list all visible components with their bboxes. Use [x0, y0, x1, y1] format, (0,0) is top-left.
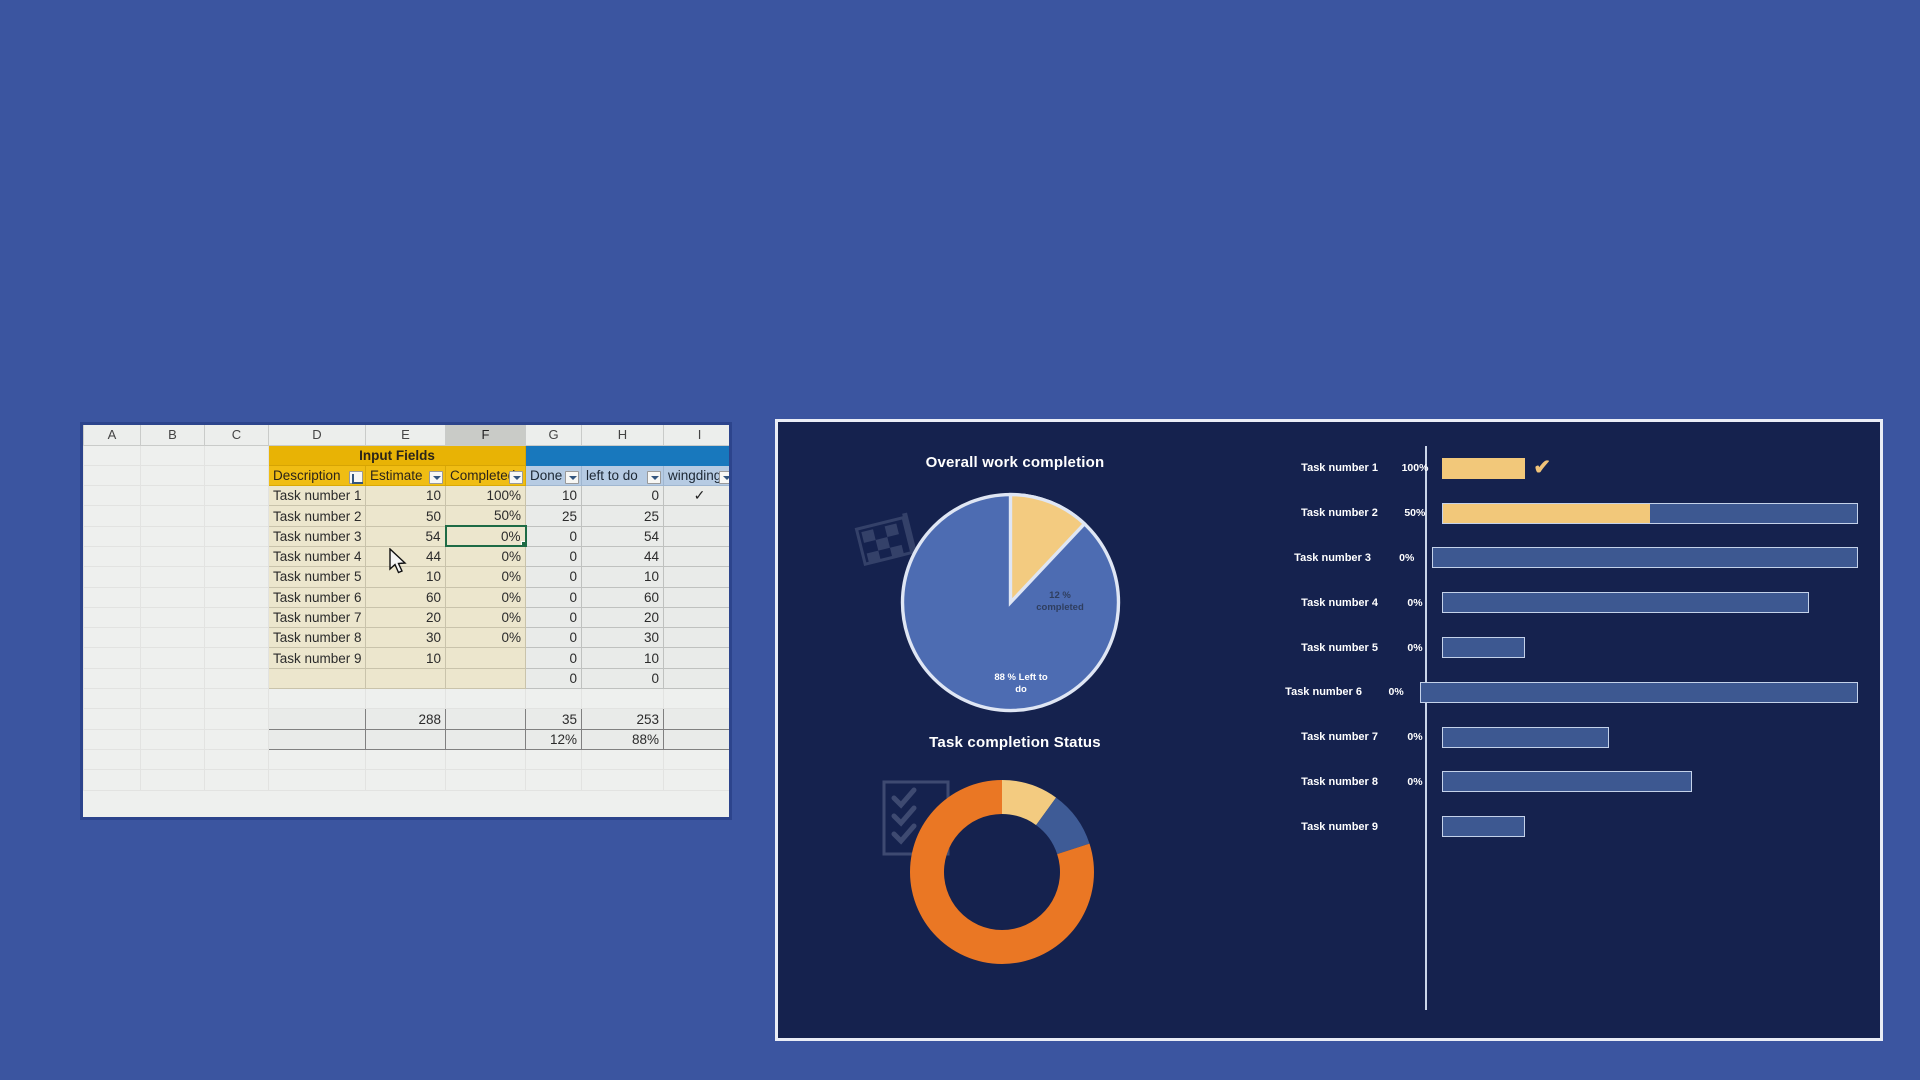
cell-blank[interactable]	[84, 526, 141, 546]
cell-left-to-do[interactable]: 30	[582, 628, 664, 648]
table-body[interactable]: Task number 110100%100✓Task number 25050…	[84, 486, 733, 689]
cell-done[interactable]: 0	[526, 668, 582, 688]
cell-blank[interactable]	[269, 770, 366, 790]
cell-description[interactable]: Task number 6	[269, 587, 366, 607]
cell-blank[interactable]	[366, 770, 446, 790]
table-row[interactable]: Task number 7200%020	[84, 607, 733, 627]
charts-column: Overall work completion 12 %complete	[800, 442, 1230, 1022]
percent-description[interactable]	[269, 729, 366, 749]
bar-track	[1432, 547, 1858, 568]
cell-blank[interactable]	[205, 445, 269, 465]
cell-blank[interactable]	[205, 546, 269, 566]
bar-percent-label: 50%	[1392, 507, 1438, 519]
pie-chart-svg	[898, 490, 1123, 715]
cell-done[interactable]: 0	[526, 567, 582, 587]
percent-row: 12% 88%	[84, 729, 733, 749]
cell-completed[interactable]: 0%	[446, 567, 526, 587]
cell-blank[interactable]	[84, 445, 141, 465]
cell-blank[interactable]	[205, 749, 269, 769]
cell-blank[interactable]	[205, 689, 269, 709]
cell-description[interactable]	[269, 668, 366, 688]
cell-wingdings[interactable]	[664, 587, 733, 607]
totals-row: 288 35 253 8	[84, 709, 733, 729]
header-description-label: Description	[273, 468, 341, 483]
cell-blank[interactable]	[84, 749, 141, 769]
cell-completed[interactable]: 0%	[446, 546, 526, 566]
header-left-to-do-label: left to do	[586, 468, 638, 483]
table-row[interactable]: Task number 4440%044	[84, 546, 733, 566]
cell-blank[interactable]	[446, 689, 526, 709]
cell-left-to-do[interactable]: 60	[582, 587, 664, 607]
cell-blank[interactable]	[84, 465, 141, 485]
cell-blank[interactable]	[84, 648, 141, 668]
cell-blank[interactable]	[141, 445, 205, 465]
bar-task-label: Task number 1	[1250, 462, 1392, 474]
cell-blank[interactable]	[205, 668, 269, 688]
bar-track	[1442, 637, 1525, 658]
cell-blank[interactable]	[664, 749, 733, 769]
bar-task-label: Task number 4	[1250, 597, 1392, 609]
bar-percent-label: 0%	[1392, 731, 1438, 743]
cell-estimate[interactable]: 60	[366, 587, 446, 607]
bar-percent-label: 100%	[1392, 462, 1438, 474]
cell-left-to-do[interactable]: 54	[582, 526, 664, 546]
cell-done[interactable]: 0	[526, 546, 582, 566]
cell-blank[interactable]	[141, 506, 205, 526]
cell-wingdings[interactable]	[664, 506, 733, 526]
spacer-row	[84, 689, 733, 709]
total-done[interactable]: 35	[526, 709, 582, 729]
cell-blank[interactable]	[84, 628, 141, 648]
cell-wingdings[interactable]	[664, 628, 733, 648]
bar-track	[1442, 727, 1609, 748]
bar-chart-row: Task number 60%	[1250, 670, 1858, 715]
column-header-f[interactable]: F	[446, 425, 526, 445]
bar-task-label: Task number 3	[1250, 552, 1385, 564]
cell-done[interactable]: 0	[526, 607, 582, 627]
cell-wingdings[interactable]	[664, 546, 733, 566]
cell-done[interactable]: 10	[526, 486, 582, 506]
cell-description[interactable]: Task number 5	[269, 567, 366, 587]
cell-estimate[interactable]: 44	[366, 546, 446, 566]
column-header-row[interactable]: A B C D E F G H I J	[84, 425, 733, 445]
cell-blank[interactable]	[141, 607, 205, 627]
cell-blank[interactable]	[141, 587, 205, 607]
filter-dropdown-icon[interactable]	[719, 471, 732, 484]
cell-blank[interactable]	[141, 709, 205, 729]
bar-chart-row: Task number 1100%✔	[1250, 446, 1858, 491]
bar-percent-label: 0%	[1392, 642, 1438, 654]
cell-left-to-do[interactable]: 0	[582, 668, 664, 688]
cell-blank[interactable]	[141, 749, 205, 769]
cell-completed[interactable]	[446, 668, 526, 688]
cell-blank[interactable]	[84, 567, 141, 587]
donut-chart: Completed, 1 Started, 1 Not Started, 8	[902, 772, 1102, 972]
bar-chart-row: Task number 250%	[1250, 491, 1858, 536]
cell-blank[interactable]	[205, 709, 269, 729]
bar-track	[1420, 682, 1858, 703]
cell-left-to-do[interactable]: 20	[582, 607, 664, 627]
cell-description[interactable]: Task number 7	[269, 607, 366, 627]
header-done[interactable]: Done	[526, 465, 582, 485]
column-header-c[interactable]: C	[205, 425, 269, 445]
cell-blank[interactable]	[664, 770, 733, 790]
cell-blank[interactable]	[141, 546, 205, 566]
cell-blank[interactable]	[205, 607, 269, 627]
cell-blank[interactable]	[141, 526, 205, 546]
cell-blank[interactable]	[582, 770, 664, 790]
bar-task-label: Task number 5	[1250, 642, 1392, 654]
cell-left-to-do[interactable]: 10	[582, 648, 664, 668]
bar-chart-row: Task number 80%	[1250, 760, 1858, 805]
column-header-a[interactable]: A	[84, 425, 141, 445]
cell-blank[interactable]	[141, 648, 205, 668]
cell-blank[interactable]	[526, 689, 582, 709]
cell-description[interactable]: Task number 4	[269, 546, 366, 566]
cell-done[interactable]: 0	[526, 587, 582, 607]
cell-wingdings-check-icon[interactable]: ✓	[664, 486, 733, 506]
cell-blank[interactable]	[205, 628, 269, 648]
bar-percent-label: 0%	[1385, 552, 1428, 564]
percent-left-to-do[interactable]: 88%	[582, 729, 664, 749]
cell-blank[interactable]	[582, 749, 664, 769]
bar-track	[1442, 503, 1858, 524]
column-header-i[interactable]: I	[664, 425, 733, 445]
cell-blank[interactable]	[141, 567, 205, 587]
percent-done[interactable]: 12%	[526, 729, 582, 749]
header-description[interactable]: Description	[269, 465, 366, 485]
donut-chart-svg	[902, 772, 1102, 972]
cell-completed[interactable]: 0%	[446, 628, 526, 648]
cell-left-to-do[interactable]: 25	[582, 506, 664, 526]
screen: A B C D E F G H I J Input Fields	[0, 0, 1920, 1080]
cell-completed[interactable]: 0%	[446, 587, 526, 607]
table-row[interactable]: Task number 8300%030	[84, 628, 733, 648]
bar-chart-row: Task number 30%	[1250, 536, 1858, 581]
cell-done[interactable]: 0	[526, 526, 582, 546]
cell-blank[interactable]	[141, 668, 205, 688]
cell-blank[interactable]	[582, 689, 664, 709]
bar-chart-row: Task number 70%	[1250, 715, 1858, 760]
cell-wingdings[interactable]	[664, 607, 733, 627]
header-estimate[interactable]: Estimate	[366, 465, 446, 485]
cell-blank[interactable]	[205, 770, 269, 790]
cell-blank[interactable]	[205, 587, 269, 607]
table-row[interactable]: Task number 910010	[84, 648, 733, 668]
percent-completed[interactable]	[446, 729, 526, 749]
cell-left-to-do[interactable]: 10	[582, 567, 664, 587]
table-row[interactable]: Task number 3540%054	[84, 526, 733, 546]
cell-completed[interactable]: 100%	[446, 486, 526, 506]
header-completed-label: Completed	[450, 468, 515, 483]
filter-dropdown-icon[interactable]	[509, 471, 523, 484]
banner-input-fields[interactable]: Input Fields	[269, 445, 526, 465]
cell-estimate[interactable]: 30	[366, 628, 446, 648]
cell-blank[interactable]	[84, 486, 141, 506]
percent-estimate[interactable]	[366, 729, 446, 749]
cell-description[interactable]: Task number 1	[269, 486, 366, 506]
cell-done[interactable]: 25	[526, 506, 582, 526]
total-estimate[interactable]: 288	[366, 709, 446, 729]
cell-blank[interactable]	[84, 729, 141, 749]
banner-output[interactable]	[526, 445, 733, 465]
cell-blank[interactable]	[84, 546, 141, 566]
table-row[interactable]: Task number 110100%100✓	[84, 486, 733, 506]
trailing-row	[84, 770, 733, 790]
bar-task-label: Task number 6	[1250, 686, 1376, 698]
bar-track	[1442, 592, 1809, 613]
bar-task-label: Task number 2	[1250, 507, 1392, 519]
filter-dropdown-icon[interactable]	[429, 471, 443, 484]
cell-estimate[interactable]: 10	[366, 486, 446, 506]
bar-fill-completed	[1442, 458, 1525, 479]
bar-percent-label: 0%	[1392, 776, 1438, 788]
bar-track	[1442, 816, 1525, 837]
cell-blank[interactable]	[205, 526, 269, 546]
cell-blank[interactable]	[141, 628, 205, 648]
column-header-e[interactable]: E	[366, 425, 446, 445]
spreadsheet-panel[interactable]: A B C D E F G H I J Input Fields	[80, 422, 732, 820]
cell-completed[interactable]: 0%	[446, 526, 526, 546]
cell-blank[interactable]	[84, 506, 141, 526]
cell-left-to-do[interactable]: 0	[582, 486, 664, 506]
cell-blank[interactable]	[205, 465, 269, 485]
column-header-b[interactable]: B	[141, 425, 205, 445]
cell-wingdings[interactable]	[664, 526, 733, 546]
cell-description[interactable]: Task number 9	[269, 648, 366, 668]
bar-chart-row: Task number 40%	[1250, 580, 1858, 625]
cell-blank[interactable]	[141, 729, 205, 749]
cell-completed[interactable]: 50%	[446, 506, 526, 526]
cell-wingdings[interactable]	[664, 668, 733, 688]
bar-task-label: Task number 7	[1250, 731, 1392, 743]
bar-track	[1442, 771, 1692, 792]
total-description[interactable]	[269, 709, 366, 729]
header-done-label: Done	[530, 468, 562, 483]
cell-blank[interactable]	[141, 465, 205, 485]
table-row[interactable]: Task number 25050%2525	[84, 506, 733, 526]
total-left-to-do[interactable]: 253	[582, 709, 664, 729]
cell-blank[interactable]	[526, 770, 582, 790]
cell-blank[interactable]	[269, 689, 366, 709]
filter-dropdown-icon[interactable]	[647, 471, 661, 484]
cell-blank[interactable]	[205, 648, 269, 668]
table-header-row: Description Estimate Completed Done left…	[84, 465, 733, 485]
cell-completed[interactable]	[446, 648, 526, 668]
bar-fill-completed	[1443, 504, 1650, 523]
cell-description[interactable]: Task number 3	[269, 526, 366, 546]
filter-dropdown-icon[interactable]	[349, 471, 363, 484]
header-completed[interactable]: Completed	[446, 465, 526, 485]
cell-blank[interactable]	[84, 668, 141, 688]
bar-chart-row: Task number 9	[1250, 804, 1858, 849]
cell-blank[interactable]	[664, 689, 733, 709]
cell-done[interactable]: 0	[526, 648, 582, 668]
column-header-d[interactable]: D	[269, 425, 366, 445]
cell-blank[interactable]	[141, 689, 205, 709]
header-estimate-label: Estimate	[370, 468, 423, 483]
filter-dropdown-icon[interactable]	[565, 471, 579, 484]
total-wingdings[interactable]	[664, 709, 733, 729]
table-row[interactable]: Task number 5100%010	[84, 567, 733, 587]
cell-blank[interactable]	[84, 689, 141, 709]
cell-blank[interactable]	[366, 749, 446, 769]
dashboard-panel: Overall work completion 12 %complete	[775, 419, 1883, 1041]
table-row[interactable]: 00	[84, 668, 733, 688]
cell-blank[interactable]	[205, 486, 269, 506]
cell-estimate[interactable]: 10	[366, 567, 446, 587]
percent-wingdings[interactable]	[664, 729, 733, 749]
bar-percent-label: 0%	[1392, 597, 1438, 609]
column-header-g[interactable]: G	[526, 425, 582, 445]
banner-row: Input Fields	[84, 445, 733, 465]
cell-estimate[interactable]: 10	[366, 648, 446, 668]
pie-chart-title: Overall work completion	[800, 454, 1230, 471]
cell-blank[interactable]	[446, 749, 526, 769]
bar-chart-row: Task number 50%	[1250, 625, 1858, 670]
cell-completed[interactable]: 0%	[446, 607, 526, 627]
header-wingdings[interactable]: wingdings	[664, 465, 733, 485]
trailing-row	[84, 749, 733, 769]
cell-blank[interactable]	[446, 770, 526, 790]
cell-blank[interactable]	[526, 749, 582, 769]
cell-done[interactable]: 0	[526, 628, 582, 648]
cell-blank[interactable]	[84, 709, 141, 729]
task-progress-bar-chart: Task number 1100%✔Task number 250%Task n…	[1250, 446, 1858, 1010]
cell-blank[interactable]	[366, 689, 446, 709]
header-left-to-do[interactable]: left to do	[582, 465, 664, 485]
donut-chart-title: Task completion Status	[800, 734, 1230, 751]
cell-wingdings[interactable]	[664, 648, 733, 668]
bar-chart-rows: Task number 1100%✔Task number 250%Task n…	[1250, 446, 1858, 849]
cell-blank[interactable]	[84, 607, 141, 627]
cell-blank[interactable]	[269, 749, 366, 769]
bar-percent-label: 0%	[1376, 686, 1416, 698]
cell-blank[interactable]	[205, 567, 269, 587]
pie-chart: 12 %completed 88 % Left todo	[898, 490, 1123, 715]
cell-blank[interactable]	[84, 770, 141, 790]
cell-blank[interactable]	[205, 506, 269, 526]
spreadsheet-grid[interactable]: A B C D E F G H I J Input Fields	[83, 425, 732, 791]
bar-task-label: Task number 8	[1250, 776, 1392, 788]
column-header-h[interactable]: H	[582, 425, 664, 445]
cell-description[interactable]: Task number 8	[269, 628, 366, 648]
table-row[interactable]: Task number 6600%060	[84, 587, 733, 607]
cell-description[interactable]: Task number 2	[269, 506, 366, 526]
cell-estimate[interactable]: 50	[366, 506, 446, 526]
cell-estimate[interactable]: 20	[366, 607, 446, 627]
cell-blank[interactable]	[141, 770, 205, 790]
cell-estimate[interactable]: 54	[366, 526, 446, 546]
total-completed[interactable]	[446, 709, 526, 729]
cell-blank[interactable]	[141, 486, 205, 506]
bar-task-label: Task number 9	[1250, 821, 1392, 833]
cell-left-to-do[interactable]: 44	[582, 546, 664, 566]
cell-blank[interactable]	[84, 587, 141, 607]
cell-wingdings[interactable]	[664, 567, 733, 587]
bar-track	[1442, 458, 1525, 479]
bar-done-check-icon: ✔	[1533, 459, 1551, 477]
cell-blank[interactable]	[205, 729, 269, 749]
cell-estimate[interactable]	[366, 668, 446, 688]
